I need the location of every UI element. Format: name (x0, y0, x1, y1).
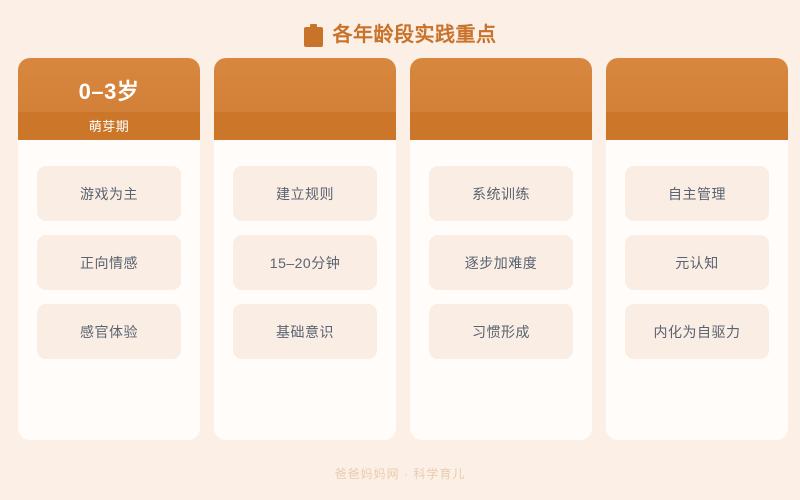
practice-point-pill[interactable]: 习惯形成 (429, 304, 573, 359)
stage-strip (214, 112, 396, 140)
stage-strip: 萌芽期 (18, 112, 200, 140)
practice-point-pill[interactable]: 内化为自驱力 (625, 304, 769, 359)
age-card[interactable]: 建立规则 15–20分钟 基础意识 (214, 58, 396, 440)
stage-label: 萌芽期 (89, 120, 130, 133)
page-title: 各年龄段实践重点 (333, 25, 497, 45)
clipboard-icon (304, 24, 323, 47)
age-card-body: 建立规则 15–20分钟 基础意识 (214, 140, 396, 440)
practice-point-pill[interactable]: 基础意识 (233, 304, 377, 359)
age-card-header (410, 58, 592, 140)
practice-point-pill[interactable]: 系统训练 (429, 166, 573, 221)
practice-point-pill[interactable]: 正向情感 (37, 235, 181, 290)
age-card-body: 游戏为主 正向情感 感官体验 (18, 140, 200, 440)
age-range-label: 0–3岁 (79, 81, 140, 103)
age-card-header (214, 58, 396, 140)
practice-point-pill[interactable]: 感官体验 (37, 304, 181, 359)
age-cards-row: 0–3岁 萌芽期 游戏为主 正向情感 感官体验 建立规则 15–20分钟 基础意… (18, 58, 800, 440)
page-title-bar: 各年龄段实践重点 (0, 18, 800, 52)
age-card[interactable]: 0–3岁 萌芽期 游戏为主 正向情感 感官体验 (18, 58, 200, 440)
footer-attribution: 爸爸妈妈网 · 科学育儿 (0, 465, 800, 482)
practice-point-pill[interactable]: 自主管理 (625, 166, 769, 221)
age-card-header (606, 58, 788, 140)
age-card-body: 系统训练 逐步加难度 习惯形成 (410, 140, 592, 440)
clipboard-icon-body (304, 27, 323, 47)
stage-strip (606, 112, 788, 140)
practice-point-pill[interactable]: 15–20分钟 (233, 235, 377, 290)
age-card-body: 自主管理 元认知 内化为自驱力 (606, 140, 788, 440)
stage-strip (410, 112, 592, 140)
practice-point-pill[interactable]: 逐步加难度 (429, 235, 573, 290)
practice-point-pill[interactable]: 元认知 (625, 235, 769, 290)
age-card-header: 0–3岁 萌芽期 (18, 58, 200, 140)
age-card[interactable]: 自主管理 元认知 内化为自驱力 (606, 58, 788, 440)
practice-point-pill[interactable]: 游戏为主 (37, 166, 181, 221)
practice-point-pill[interactable]: 建立规则 (233, 166, 377, 221)
age-card[interactable]: 系统训练 逐步加难度 习惯形成 (410, 58, 592, 440)
